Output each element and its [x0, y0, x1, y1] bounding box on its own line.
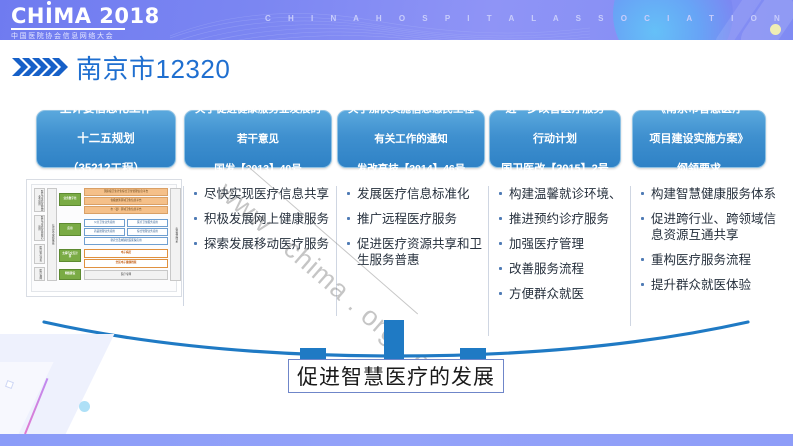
- arch-left-label-2: 医疗卫生信息化核心应用: [34, 215, 45, 241]
- arch-row2-box3: 药品管理业务应用: [84, 228, 125, 236]
- column-header-3: 关于加快实施信息惠民工程 有关工作的通知 发改高技【2014】46号: [337, 110, 485, 168]
- list-item: 发展医疗信息标准化: [345, 186, 486, 202]
- bullet-column-3: 发展医疗信息标准化 推广远程医疗服务 促进医疗资源共享和卫生服务普惠: [336, 186, 486, 316]
- logo-divider-rule: [11, 28, 125, 30]
- arch-category-4: 网络建设: [59, 269, 81, 280]
- list-item: 推进预约诊疗服务: [497, 211, 628, 227]
- arch-row1-box3: 市（县）区域卫生信息平台: [84, 206, 168, 214]
- column-header-2: 关于促进健康服务业发展的 若干意见 国发【2013】40号: [184, 110, 332, 168]
- logo-text-post: MA 2018: [53, 4, 159, 28]
- chima-logo-wordmark: CHIMA 2018: [11, 5, 127, 27]
- list-item: 促进跨行业、跨领域信息资源互通共享: [639, 211, 782, 243]
- arch-row2-box4: 综合管理业务应用: [127, 228, 168, 236]
- list-item: 重构医疗服务流程: [639, 252, 782, 268]
- conclusion-text: 促进智慧医疗的发展: [297, 361, 495, 391]
- bullet-column-2: 尽快实现医疗信息共享 积极发展网上健康服务 探索发展移动医疗服务: [183, 186, 333, 306]
- column-header-3-line-1: 关于加快实施信息惠民工程: [348, 102, 474, 117]
- chevron-arrows-icon: [12, 56, 68, 78]
- column-header-2-line-3: 国发【2013】40号: [195, 162, 321, 177]
- list-item: 构建智慧健康服务体系: [639, 186, 782, 202]
- logo-letter-i: I: [45, 5, 53, 27]
- column-header-1-line-2: 十二五规划: [60, 132, 152, 147]
- architecture-diagram-canvas: 医疗卫生信息管理业务应用 医疗卫生信息化核心应用 医疗核心业务 医疗专网 信息安…: [31, 184, 177, 292]
- arch-row2-box2: 医疗卫生服务应用: [127, 219, 168, 227]
- arch-category-3: 支撑与交互计算: [59, 249, 81, 262]
- header-association-text: C H I N A H O S P I T A L A S S O C I A …: [265, 14, 787, 23]
- list-item: 尽快实现医疗信息共享: [192, 186, 333, 202]
- list-item: 促进医疗资源共享和卫生服务普惠: [345, 236, 486, 268]
- list-item: 探索发展移动医疗服务: [192, 236, 333, 252]
- column-header-3-line-3: 发改高技【2014】46号: [348, 162, 474, 177]
- column-header-5-line-3: 纲领要求: [650, 162, 749, 177]
- header-wave-decoration: [170, 6, 590, 40]
- column-header-5-line-2: 项目建设实施方案》: [650, 132, 749, 147]
- arch-row3-box2: 全民电子健康档案: [84, 259, 168, 268]
- conclusion-box: 促进智慧医疗的发展: [288, 359, 504, 393]
- bullet-list-2: 尽快实现医疗信息共享 积极发展网上健康服务 探索发展移动医疗服务: [192, 186, 333, 252]
- arch-category-2: 应用: [59, 223, 81, 236]
- column-header-3-line-2: 有关工作的通知: [348, 132, 474, 147]
- logo-text-pre: CH: [11, 4, 45, 28]
- list-item: 加强医疗管理: [497, 236, 628, 252]
- column-header-2-line-2: 若干意见: [195, 132, 321, 147]
- footer-circle-decoration: [79, 401, 90, 412]
- arch-left-label-1: 医疗卫生信息管理业务应用: [34, 188, 45, 212]
- arch-row1-box2: 省级统筹区域卫生信息平台: [84, 197, 168, 205]
- arch-row2-box5: 新农合及城镇居民医保应用: [84, 237, 168, 245]
- logo-i-letter: I: [45, 4, 53, 28]
- slide-header-bar: CHIMA 2018 中国医院协会信息网络大会 C H I N A H O S …: [0, 0, 793, 40]
- arch-left-label-4: 医疗专网: [34, 267, 45, 281]
- page-title: 南京市12320: [76, 49, 230, 86]
- arch-row1-box1: 国家级卫生计生综合卫生管理信息平台: [84, 188, 168, 196]
- column-header-4-line-2: 行动计划: [501, 132, 609, 147]
- column-header-1-line-3: （35212工程）: [60, 162, 152, 177]
- slide-title-row: 南京市12320: [12, 50, 230, 84]
- list-item: 积极发展网上健康服务: [192, 211, 333, 227]
- arch-row2-box1: 公共卫生业务应用: [84, 219, 125, 227]
- header-yellow-dot: [770, 24, 781, 35]
- column-header-2-line-1: 关于促进健康服务业发展的: [195, 102, 321, 117]
- chevron-right-icon: [12, 56, 68, 78]
- list-item: 构建温馨就诊环境、: [497, 186, 628, 202]
- chima-logo-subtitle: 中国医院协会信息网络大会: [11, 32, 127, 40]
- column-header-1-line-1: 卫计委信息化工作: [60, 102, 152, 117]
- column-header-5-line-1: 《南京市智慧医疗: [650, 102, 749, 117]
- column-header-4-line-1: 进一步改善医疗服务: [501, 102, 609, 117]
- bullet-list-5: 构建智慧健康服务体系 促进跨行业、跨领域信息资源互通共享 重构医疗服务流程 提升…: [639, 186, 782, 293]
- column-header-5: 《南京市智慧医疗 项目建设实施方案》 纲领要求: [632, 110, 766, 168]
- chima-logo: CHIMA 2018 中国医院协会信息网络大会: [11, 5, 127, 40]
- list-item: 推广远程医疗服务: [345, 211, 486, 227]
- list-item: 改善服务流程: [497, 261, 628, 277]
- bullet-list-3: 发展医疗信息标准化 推广远程医疗服务 促进医疗资源共享和卫生服务普惠: [345, 186, 486, 268]
- arch-right-label: 标准规范体系: [170, 188, 181, 281]
- list-item: 提升群众就医体验: [639, 277, 782, 293]
- column-header-4-line-3: 国卫医改【2015】2号: [501, 162, 609, 177]
- bullet-list-4: 构建温馨就诊环境、 推进预约诊疗服务 加强医疗管理 改善服务流程 方便群众就医: [497, 186, 628, 302]
- arch-row3-box1: 电子病历: [84, 249, 168, 258]
- slide-root: CHIMA 2018 中国医院协会信息网络大会 C H I N A H O S …: [0, 0, 793, 446]
- arch-row4-box1: 医疗专网: [84, 270, 168, 280]
- column-header-1: 卫计委信息化工作 十二五规划 （35212工程）: [36, 110, 176, 168]
- arch-left-label-3: 医疗核心业务: [34, 244, 45, 264]
- architecture-diagram-image: 医疗卫生信息管理业务应用 医疗卫生信息化核心应用 医疗核心业务 医疗专网 信息安…: [26, 179, 182, 297]
- arch-category-1: 业务数字化: [59, 193, 81, 206]
- slide-footer-bar: [0, 434, 793, 446]
- arch-security-spine: 信息安全保障体系: [47, 188, 57, 281]
- column-header-4: 进一步改善医疗服务 行动计划 国卫医改【2015】2号: [489, 110, 621, 168]
